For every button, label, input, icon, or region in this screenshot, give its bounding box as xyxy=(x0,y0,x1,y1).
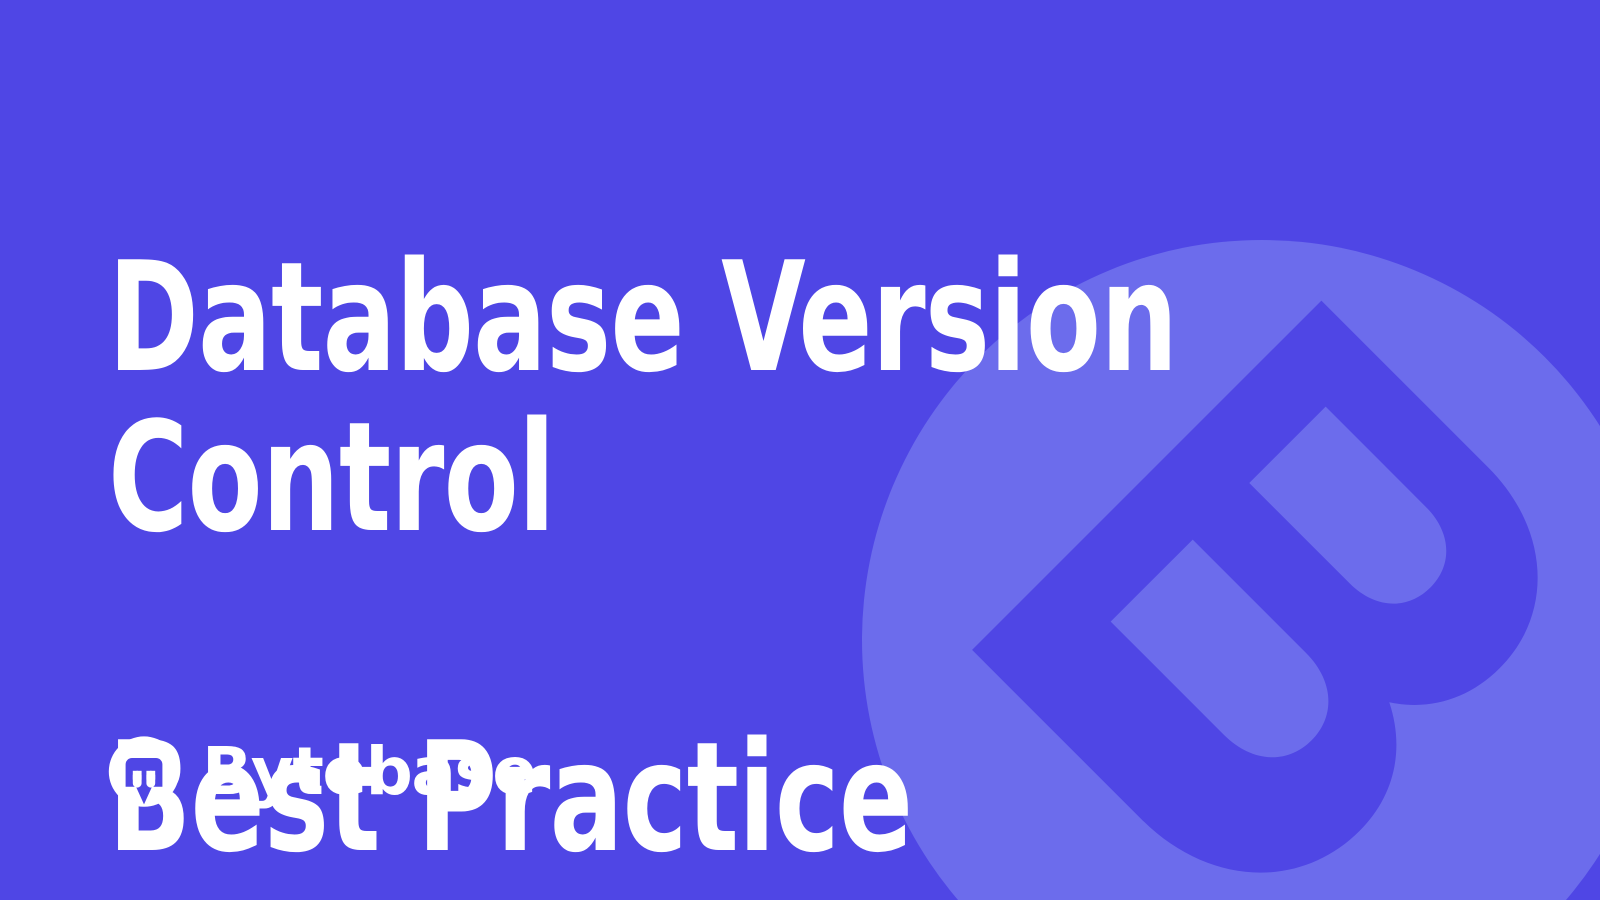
social-card: Database Version Control Best Practice B… xyxy=(0,0,1600,900)
brand-wordmark: Bytebase xyxy=(202,739,535,805)
brand-lockup: Bytebase xyxy=(104,734,535,814)
page-title-line-1: Database Version Control xyxy=(108,238,1212,558)
bytebase-logo-mark-icon xyxy=(104,734,184,814)
